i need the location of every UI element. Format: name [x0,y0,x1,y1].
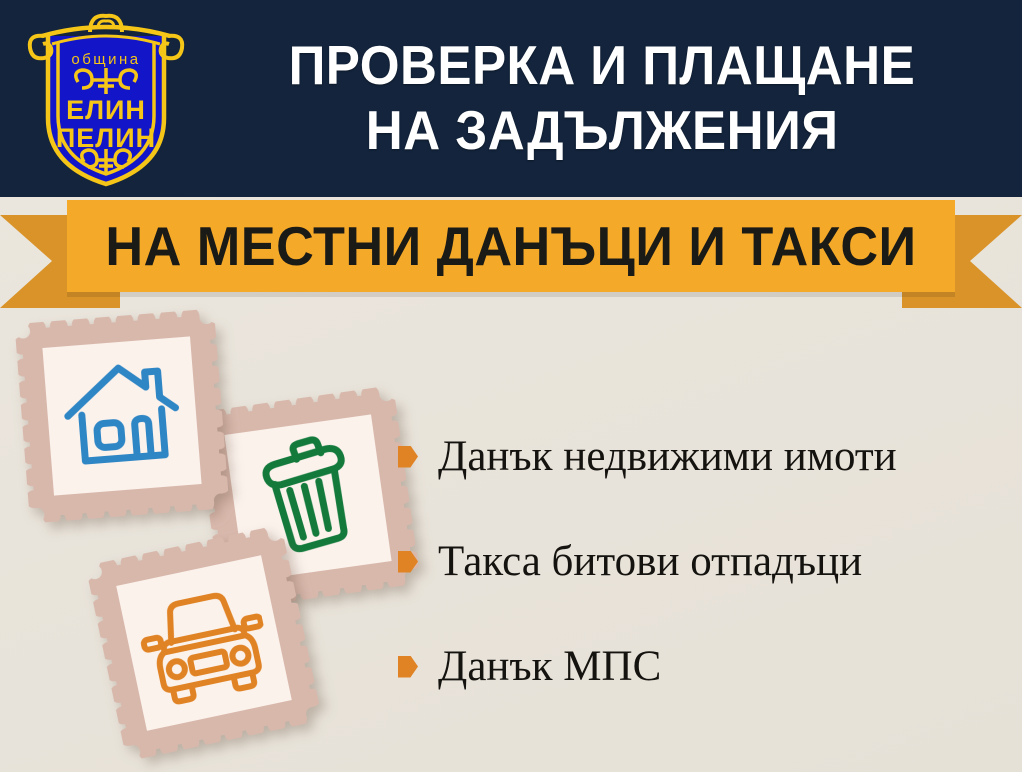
arrow-bullet-icon [398,446,418,468]
arrow-bullet-icon [398,551,418,573]
stamp-frame [85,524,322,761]
arrow-bullet-icon [398,656,418,678]
list-item[interactable]: Данък МПС [398,614,1010,719]
list-item-label: Такса битови отпадъци [438,540,862,583]
svg-text:община: община [71,51,140,68]
house-icon [55,349,188,482]
svg-text:ПЕЛИН: ПЕЛИН [56,123,156,153]
ribbon-panel: НА МЕСТНИ ДАНЪЦИ И ТАКСИ [67,200,955,292]
stamp-frame [14,308,229,523]
stamp-card-car [85,524,322,761]
list-item[interactable]: Данък недвижими имоти [398,404,1010,509]
tax-list: Данък недвижими имоти Такса битови отпад… [398,404,1010,719]
poster: община ЕЛИН ПЕЛИН [0,0,1022,772]
car-icon [130,569,277,716]
ribbon-text: НА МЕСТНИ ДАНЪЦИ И ТАКСИ [89,200,933,292]
title-line-1: ПРОВЕРКА И ПЛАЩАНЕ [289,33,916,98]
svg-text:ЕЛИН: ЕЛИН [66,95,146,125]
municipality-logo: община ЕЛИН ПЕЛИН [22,6,190,188]
header-bar: община ЕЛИН ПЕЛИН [0,0,1022,197]
list-item-label: Данък недвижими имоти [438,435,897,478]
stamp-card-house [14,308,229,523]
list-item[interactable]: Такса битови отпадъци [398,509,1010,614]
title-line-2: НА ЗАДЪЛЖЕНИЯ [366,98,839,163]
subtitle-ribbon: НА МЕСТНИ ДАНЪЦИ И ТАКСИ [0,196,1022,308]
list-item-label: Данък МПС [438,645,661,688]
page-title: ПРОВЕРКА И ПЛАЩАНЕ НА ЗАДЪЛЖЕНИЯ [196,16,1008,180]
